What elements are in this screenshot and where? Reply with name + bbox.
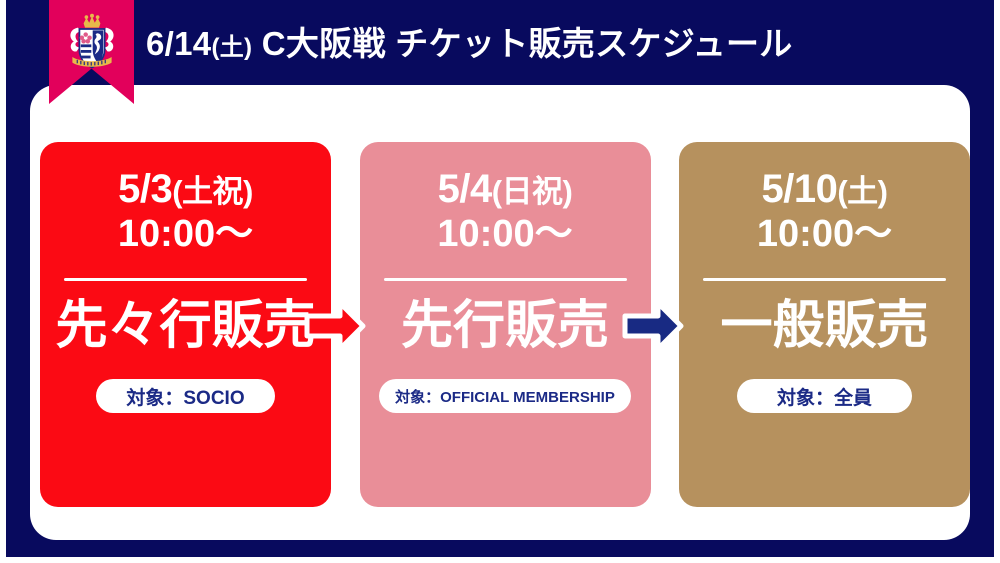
schedule-graphic: 6/14(土) C大阪戦 チケット販売スケジュール 5/3(土祝) 10:00〜…	[0, 0, 1000, 563]
card-3-date-value: 5/10	[761, 167, 837, 211]
card-3-divider	[703, 278, 946, 281]
card-1-date-value: 5/3	[118, 167, 172, 211]
card-1-divider	[64, 278, 307, 281]
card-2-sale-type: 先行販売	[401, 299, 609, 354]
card-3-date: 5/10(土)	[761, 168, 887, 211]
card-3-time: 10:00〜	[757, 213, 892, 256]
arrow-right-red-icon	[304, 298, 366, 354]
title-date: 6/14	[146, 25, 211, 62]
title-rest: C大阪戦 チケット販売スケジュール	[252, 25, 792, 62]
card-2-target-badge: 対象：OFFICIAL MEMBERSHIP	[379, 379, 631, 413]
card-1-sale-type: 先々行販売	[55, 299, 315, 354]
card-1-date: 5/3(土祝)	[118, 168, 253, 211]
card-2-time: 10:00〜	[437, 213, 572, 256]
page-title: 6/14(土) C大阪戦 チケット販売スケジュール	[146, 18, 966, 70]
arrow-right-navy-icon	[622, 298, 684, 354]
card-2-divider	[384, 278, 627, 281]
card-3-dayofweek: (土)	[837, 174, 887, 209]
card-1-target-badge: 対象：SOCIO	[96, 379, 274, 413]
card-3-target-badge: 対象：全員	[737, 379, 912, 413]
card-2-date: 5/4(日祝)	[438, 168, 573, 211]
schedule-card-3[interactable]: 5/10(土) 10:00〜 一般販売 対象：全員	[679, 142, 970, 507]
schedule-cards: 5/3(土祝) 10:00〜 先々行販売 対象：SOCIO 5/4(日祝) 10…	[40, 142, 970, 507]
card-2-dayofweek: (日祝)	[492, 174, 573, 209]
schedule-card-2[interactable]: 5/4(日祝) 10:00〜 先行販売 対象：OFFICIAL MEMBERSH…	[360, 142, 651, 507]
cerezo-crest-icon	[57, 8, 127, 78]
schedule-card-1[interactable]: 5/3(土祝) 10:00〜 先々行販売 対象：SOCIO	[40, 142, 331, 507]
card-1-dayofweek: (土祝)	[172, 174, 253, 209]
title-dayofweek: (土)	[211, 34, 252, 61]
card-2-date-value: 5/4	[438, 167, 492, 211]
card-1-time: 10:00〜	[118, 213, 253, 256]
card-3-sale-type: 一般販売	[720, 299, 928, 354]
